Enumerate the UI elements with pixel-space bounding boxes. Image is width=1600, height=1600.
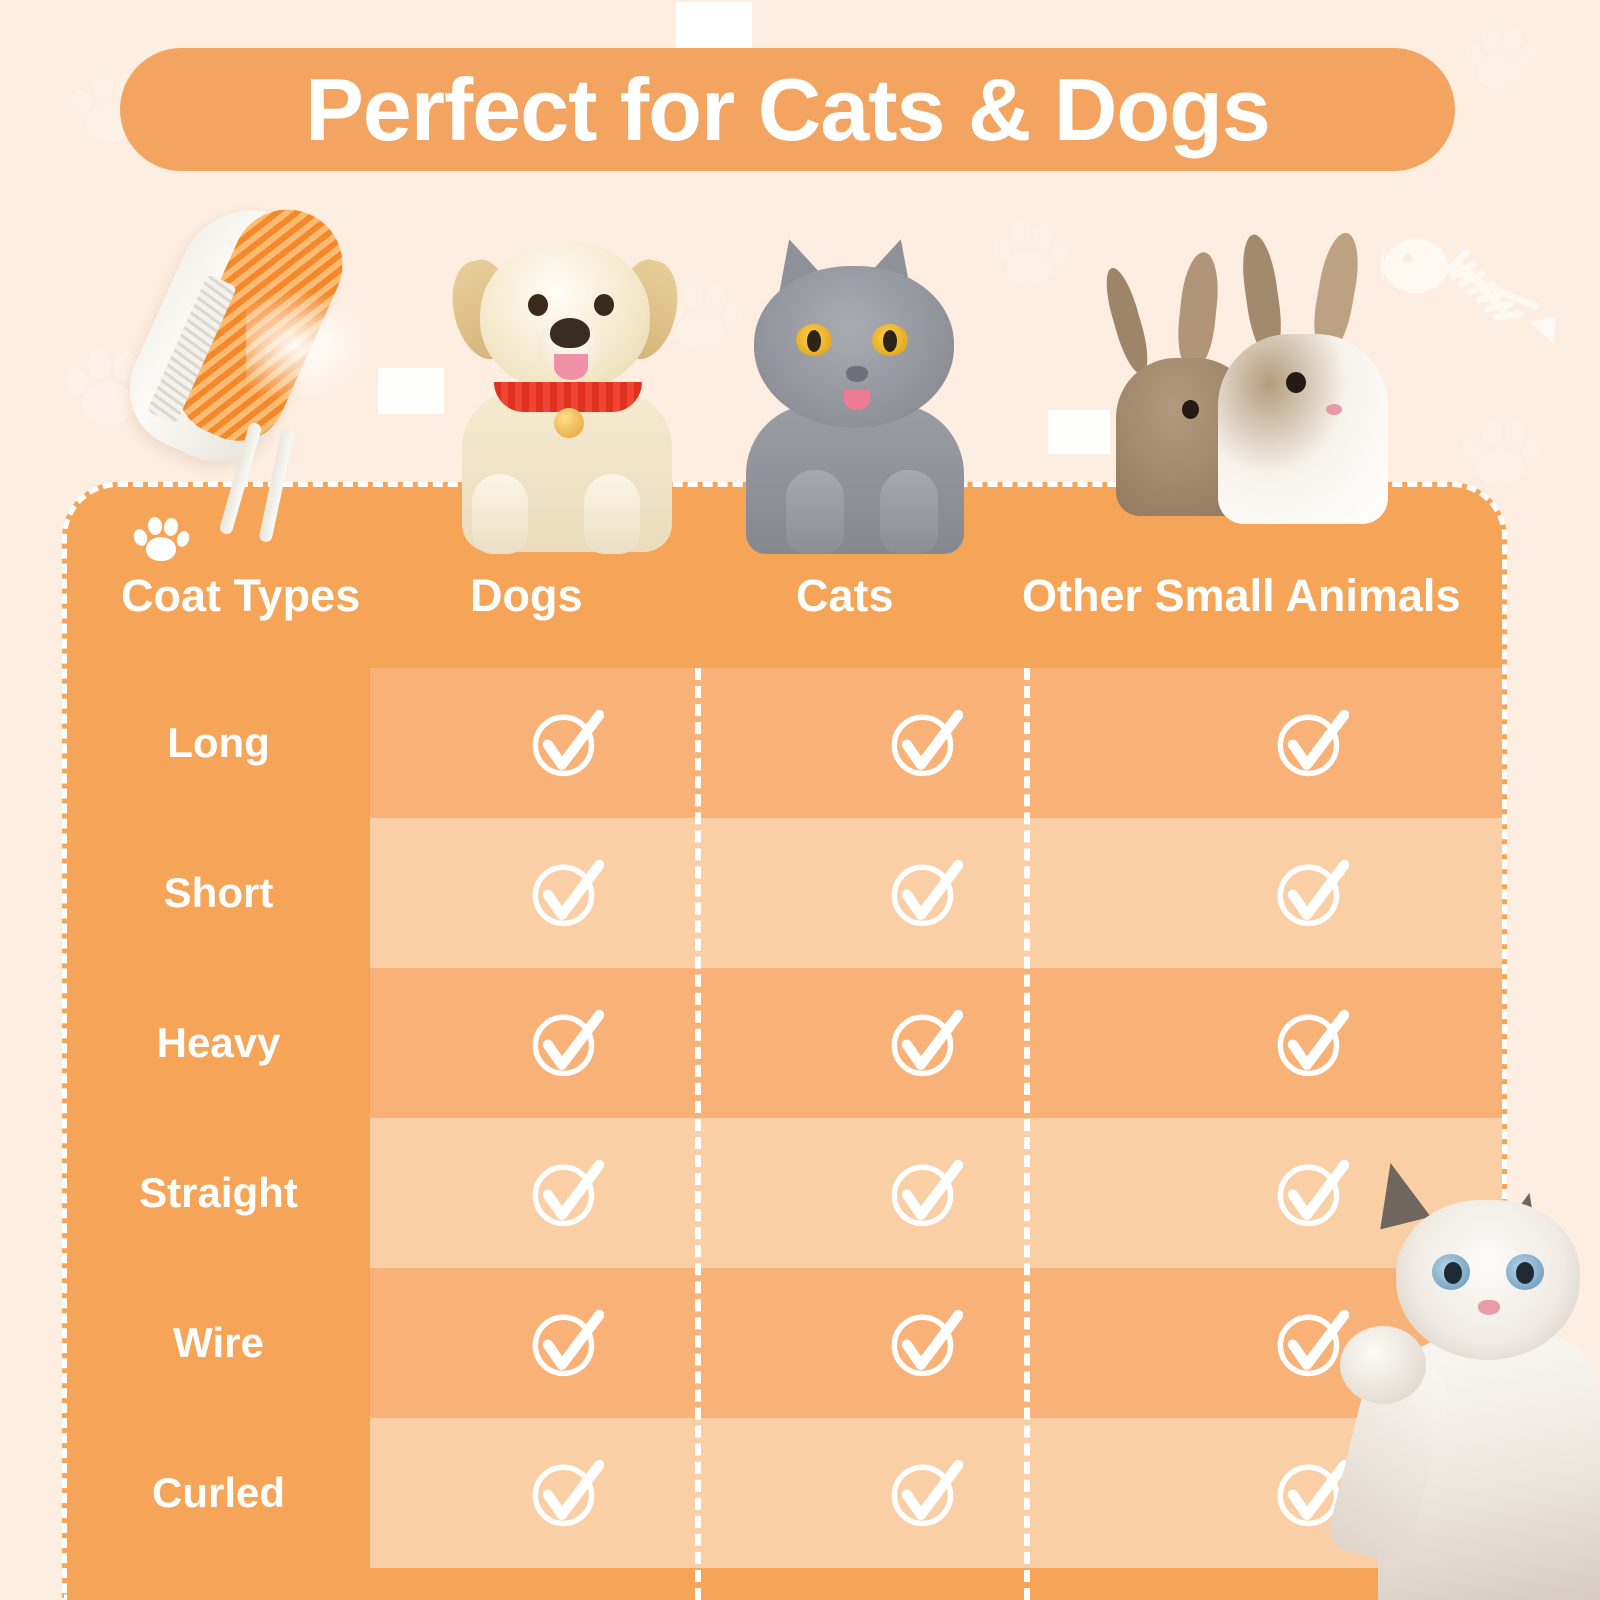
- row-label: Curled: [152, 1469, 285, 1517]
- row-label: Straight: [139, 1169, 298, 1217]
- check-circle-icon: [1271, 1004, 1349, 1082]
- check-circle-icon: [526, 854, 604, 932]
- cell-short-other: [1088, 818, 1507, 968]
- cell-heavy-other: [1088, 968, 1507, 1118]
- cell-curled-cats: [759, 1418, 1088, 1568]
- check-circle-icon: [885, 1154, 963, 1232]
- pet-grooming-brush-image: [128, 196, 373, 526]
- fishbone-icon: [1378, 228, 1578, 348]
- coat-type-comparison-table: Coat Types Dogs Cats Other Small Animals…: [62, 482, 1507, 1600]
- check-circle-icon: [885, 704, 963, 782]
- page-title: Perfect for Cats & Dogs: [305, 66, 1270, 154]
- column-header-cats: Cats: [796, 573, 894, 618]
- check-circle-icon: [526, 1004, 604, 1082]
- row-label-cell: Curled: [67, 1418, 370, 1568]
- check-circle-icon: [526, 1304, 604, 1382]
- golden-retriever-puppy-image: [432, 222, 700, 552]
- two-rabbits-image: [1070, 228, 1380, 528]
- row-label: Wire: [173, 1319, 264, 1367]
- british-shorthair-cat-image: [740, 232, 982, 552]
- table-row: Heavy: [67, 968, 1502, 1118]
- cell-straight-cats: [759, 1118, 1088, 1268]
- row-label-cell: Straight: [67, 1118, 370, 1268]
- column-header-dogs: Dogs: [470, 573, 583, 618]
- check-circle-icon: [526, 704, 604, 782]
- infographic-page: Perfect for Cats & Dogs: [0, 0, 1600, 1600]
- row-label: Heavy: [157, 1019, 281, 1067]
- row-label-cell: Short: [67, 818, 370, 968]
- row-label: Short: [164, 869, 274, 917]
- table-row: Short: [67, 818, 1502, 968]
- row-label-cell: Heavy: [67, 968, 370, 1118]
- table-row: Curled: [67, 1418, 1502, 1568]
- table-body: Long Short: [67, 668, 1502, 1568]
- table-row: Long: [67, 668, 1502, 818]
- cell-wire-cats: [759, 1268, 1088, 1418]
- column-divider-dogs-cats: [695, 668, 701, 1600]
- ragdoll-cat-waving-image: [1300, 1168, 1600, 1600]
- cell-long-other: [1088, 668, 1507, 818]
- check-circle-icon: [1271, 854, 1349, 932]
- check-circle-icon: [526, 1154, 604, 1232]
- check-circle-icon: [885, 1004, 963, 1082]
- column-header-coat-types: Coat Types: [121, 573, 360, 618]
- paw-print-icon: [1460, 410, 1542, 492]
- cell-long-cats: [759, 668, 1088, 818]
- cell-short-cats: [759, 818, 1088, 968]
- paw-print-icon: [1462, 18, 1538, 94]
- column-divider-cats-other: [1024, 668, 1030, 1600]
- cell-heavy-cats: [759, 968, 1088, 1118]
- check-circle-icon: [885, 854, 963, 932]
- check-circle-icon: [885, 1304, 963, 1382]
- row-label-cell: Long: [67, 668, 370, 818]
- paw-print-icon: [990, 212, 1070, 292]
- check-circle-icon: [1271, 704, 1349, 782]
- table-row: Straight: [67, 1118, 1502, 1268]
- check-circle-icon: [526, 1454, 604, 1532]
- row-label: Long: [167, 719, 270, 767]
- column-header-other-small-animals: Other Small Animals: [1022, 573, 1460, 618]
- check-circle-icon: [885, 1454, 963, 1532]
- table-row: Wire: [67, 1268, 1502, 1418]
- title-banner: Perfect for Cats & Dogs: [120, 48, 1455, 171]
- row-label-cell: Wire: [67, 1268, 370, 1418]
